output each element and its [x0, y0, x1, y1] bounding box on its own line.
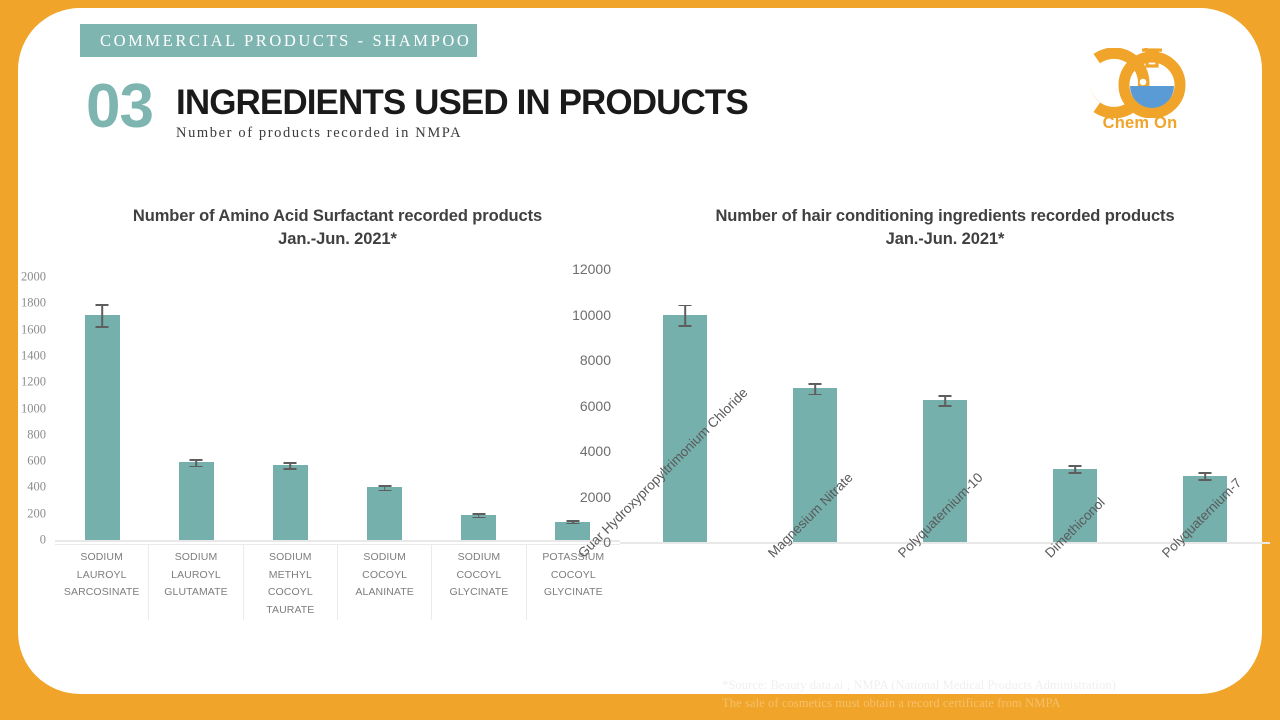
chart-right-title: Number of hair conditioning ingredients … — [620, 205, 1270, 252]
error-bar — [684, 305, 686, 325]
bar-group — [243, 277, 337, 540]
slide: COMMERCIAL PRODUCTS - SHAMPOO 03 INGREDI… — [0, 0, 1280, 720]
chart-hair-conditioning-ingredients: Number of hair conditioning ingredients … — [620, 205, 1270, 675]
chart-right-x-axis-labels: Guar Hydroxypropyltrimonium ChlorideMagn… — [620, 544, 1270, 674]
bar — [273, 465, 308, 540]
error-bar-cap — [378, 490, 391, 492]
y-axis-tick-label: 8000 — [580, 352, 620, 368]
y-axis-tick-label: 2000 — [580, 489, 620, 505]
error-bar-cap — [1199, 479, 1212, 481]
title-block: INGREDIENTS USED IN PRODUCTS Number of p… — [176, 84, 748, 142]
error-bar-cap — [284, 468, 297, 470]
page-subtitle: Number of products recorded in NMPA — [176, 125, 748, 142]
chart-left-baseline — [55, 540, 620, 542]
y-axis-tick-label: 200 — [27, 506, 55, 521]
logo-mark-icon — [1070, 48, 1210, 118]
error-bar-cap — [378, 485, 391, 487]
error-bar-cap — [939, 395, 952, 397]
y-axis-tick-label: 4000 — [580, 443, 620, 459]
bar-group — [1010, 269, 1140, 542]
error-bar-cap — [472, 517, 485, 519]
y-axis-tick-label: 1600 — [21, 322, 55, 337]
x-axis-category-label: SODIUMCOCOYLALANINATE — [338, 545, 432, 620]
chart-left-title-line2: Jan.-Jun. 2021* — [55, 228, 620, 251]
bar-group — [1140, 269, 1270, 542]
chart-left-plot-area: 2000180016001400120010008006004002000 — [55, 277, 620, 542]
y-axis-tick-label: 10000 — [572, 307, 620, 323]
y-axis-tick-label: 1200 — [21, 375, 55, 390]
error-bar-cap — [190, 459, 203, 461]
bar-group — [55, 277, 149, 540]
chart-left-x-axis-labels: SODIUMLAUROYLSARCOSINATESODIUMLAUROYLGLU… — [55, 544, 620, 620]
error-bar-cap — [566, 520, 579, 522]
source-line-1: *Source: Beauty data.ai ; NMPA (National… — [722, 678, 1262, 693]
chart-right-title-line1: Number of hair conditioning ingredients … — [620, 205, 1270, 228]
x-axis-category-label: SODIUMMETHYLCOCOYLTAURATE — [244, 545, 338, 620]
error-bar-cap — [566, 523, 579, 525]
error-bar-cap — [679, 305, 692, 307]
y-axis-tick-label: 6000 — [580, 398, 620, 414]
y-axis-tick-label: 800 — [27, 427, 55, 442]
error-bar-cap — [809, 383, 822, 385]
bar — [85, 315, 120, 540]
error-bar-cap — [190, 466, 203, 468]
error-bar-cap — [809, 394, 822, 396]
y-axis-tick-label: 1000 — [21, 401, 55, 416]
y-axis-tick-label: 600 — [27, 454, 55, 469]
bar-group — [432, 277, 526, 540]
logo-brand-text: Chem On — [1070, 114, 1210, 133]
error-bar-cap — [939, 405, 952, 407]
error-bar-cap — [96, 304, 109, 306]
section-number: 03 — [86, 76, 153, 138]
error-bar — [101, 304, 103, 326]
x-axis-category-label: SODIUMLAUROYLSARCOSINATE — [55, 545, 149, 620]
x-axis-category-label: SODIUMLAUROYLGLUTAMATE — [149, 545, 243, 620]
y-axis-tick-label: 12000 — [572, 261, 620, 277]
bar — [367, 487, 402, 540]
chart-left-bars — [55, 277, 620, 540]
error-bar-cap — [1069, 472, 1082, 474]
slide-eyebrow-banner: COMMERCIAL PRODUCTS - SHAMPOO — [80, 24, 477, 57]
y-axis-tick-label: 0 — [40, 533, 55, 548]
x-axis-category-label: POTASSIUMCOCOYLGLYCINATE — [527, 545, 620, 620]
x-axis-category-label: SODIUMCOCOYLGLYCINATE — [432, 545, 526, 620]
error-bar-cap — [1069, 465, 1082, 467]
chemon-logo: Chem On — [1070, 48, 1210, 144]
y-axis-tick-label: 2000 — [21, 270, 55, 285]
error-bar-cap — [472, 513, 485, 515]
chart-left-title: Number of Amino Acid Surfactant recorded… — [55, 205, 620, 252]
source-line-2: The sale of cosmetics must obtain a reco… — [722, 696, 1262, 711]
y-axis-tick-label: 400 — [27, 480, 55, 495]
bar-group — [338, 277, 432, 540]
y-axis-tick-label: 1800 — [21, 296, 55, 311]
page-title: INGREDIENTS USED IN PRODUCTS — [176, 84, 748, 122]
chart-amino-acid-surfactant: Number of Amino Acid Surfactant recorded… — [55, 205, 620, 645]
bar — [461, 515, 496, 540]
eyebrow-label: COMMERCIAL PRODUCTS - SHAMPOO — [100, 31, 471, 51]
error-bar-cap — [284, 462, 297, 464]
error-bar-cap — [96, 326, 109, 328]
error-bar-cap — [679, 325, 692, 327]
chart-left-title-line1: Number of Amino Acid Surfactant recorded… — [55, 205, 620, 228]
chart-right-title-line2: Jan.-Jun. 2021* — [620, 228, 1270, 251]
bar — [179, 462, 214, 540]
bar-group — [149, 277, 243, 540]
page-number: 19 — [1162, 676, 1178, 692]
error-bar-cap — [1199, 472, 1212, 474]
footer-source: *Source: Beauty data.ai ; NMPA (National… — [722, 678, 1262, 711]
y-axis-tick-label: 1400 — [21, 348, 55, 363]
